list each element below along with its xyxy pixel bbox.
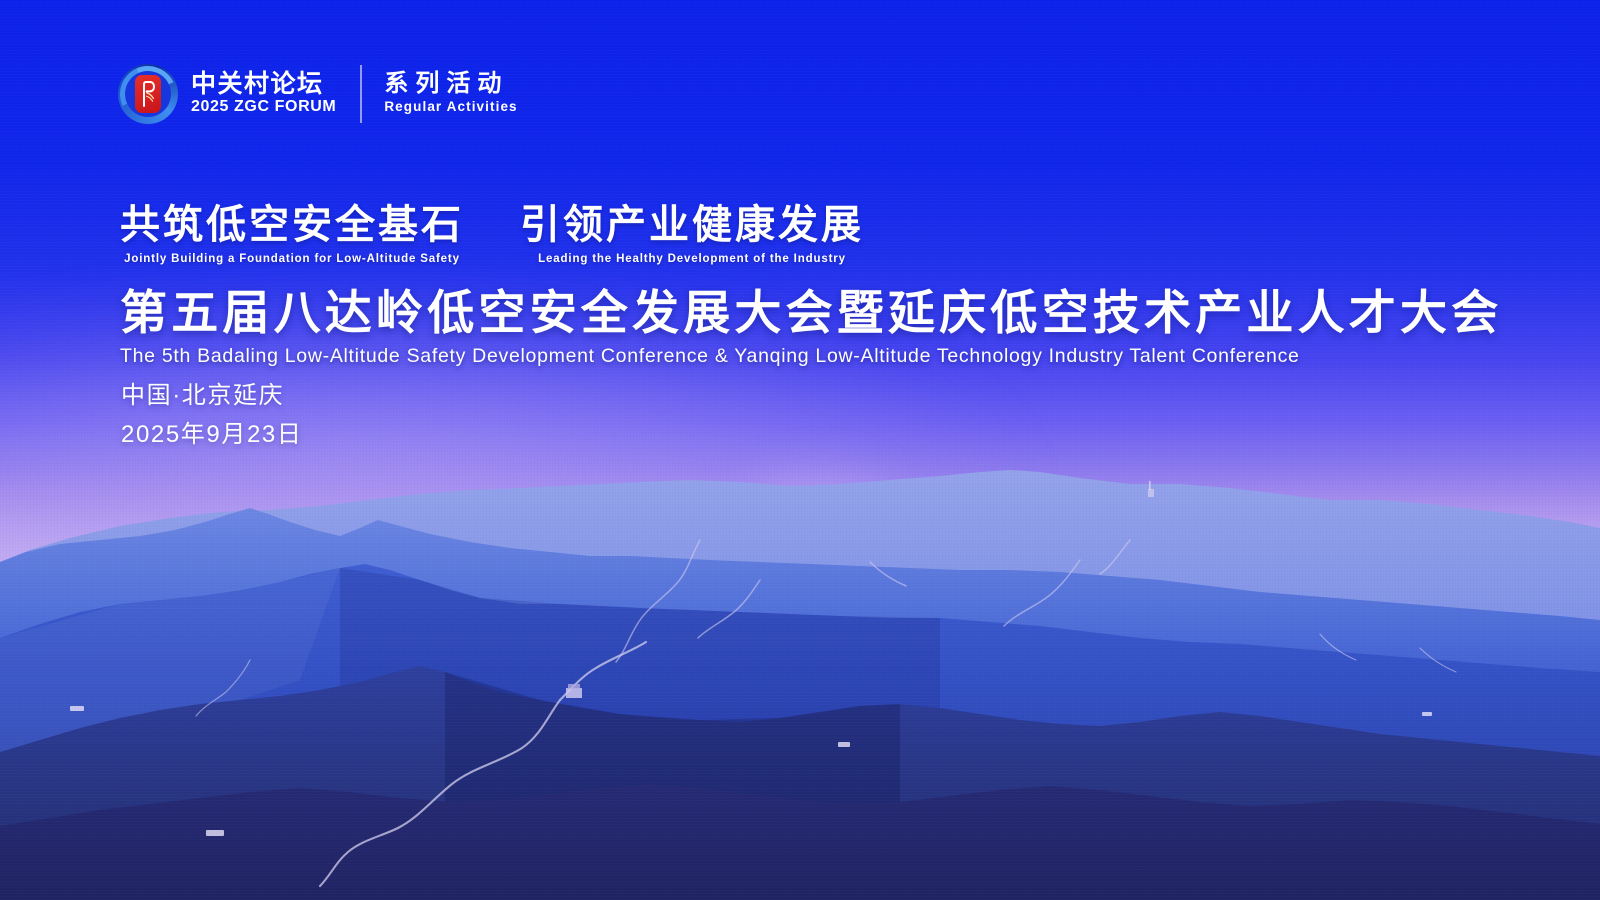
brand-lockup[interactable]: 中关村论坛 2025 ZGC FORUM 系列活动 Regular Activi… bbox=[118, 58, 518, 130]
event-location: 中国·北京延庆 bbox=[121, 377, 302, 416]
series-label-cn: 系列活动 bbox=[384, 71, 517, 97]
slogan-en: Jointly Building a Foundation for Low-Al… bbox=[120, 252, 464, 267]
slogan-en: Leading the Healthy Development of the I… bbox=[520, 252, 864, 267]
conference-title-cn: 第五届八达岭低空安全发展大会暨延庆低空技术产业人才大会 bbox=[120, 287, 1502, 339]
forum-name-cn: 中关村论坛 bbox=[191, 71, 336, 98]
series-label-en: Regular Activities bbox=[384, 97, 517, 117]
slogan-group: 共筑低空安全基石 Jointly Building a Foundation f… bbox=[120, 203, 864, 267]
conference-title-en: The 5th Badaling Low-Altitude Safety Dev… bbox=[120, 343, 1502, 369]
flame-p-glyph-icon bbox=[141, 81, 155, 107]
series-label-group: 系列活动 Regular Activities bbox=[384, 71, 517, 118]
zgc-forum-emblem-icon bbox=[118, 64, 178, 124]
conference-key-visual-poster: 中关村论坛 2025 ZGC FORUM 系列活动 Regular Activi… bbox=[0, 0, 1600, 900]
page-title: 第五届八达岭低空安全发展大会暨延庆低空技术产业人才大会 The 5th Bada… bbox=[120, 287, 1502, 369]
mountain-layer-base bbox=[0, 760, 1600, 900]
slogan-cn: 引领产业健康发展 bbox=[520, 203, 864, 249]
slogan-item: 共筑低空安全基石 Jointly Building a Foundation f… bbox=[120, 203, 464, 267]
forum-name-group: 中关村论坛 2025 ZGC FORUM bbox=[191, 71, 336, 118]
vertical-divider-icon bbox=[360, 65, 362, 123]
event-date: 2025年9月23日 bbox=[121, 416, 302, 455]
forum-name-en: 2025 ZGC FORUM bbox=[191, 97, 336, 117]
slogan-cn: 共筑低空安全基石 bbox=[120, 203, 464, 249]
slogan-item: 引领产业健康发展 Leading the Healthy Development… bbox=[520, 203, 864, 267]
event-meta: 中国·北京延庆 2025年9月23日 bbox=[121, 377, 302, 455]
